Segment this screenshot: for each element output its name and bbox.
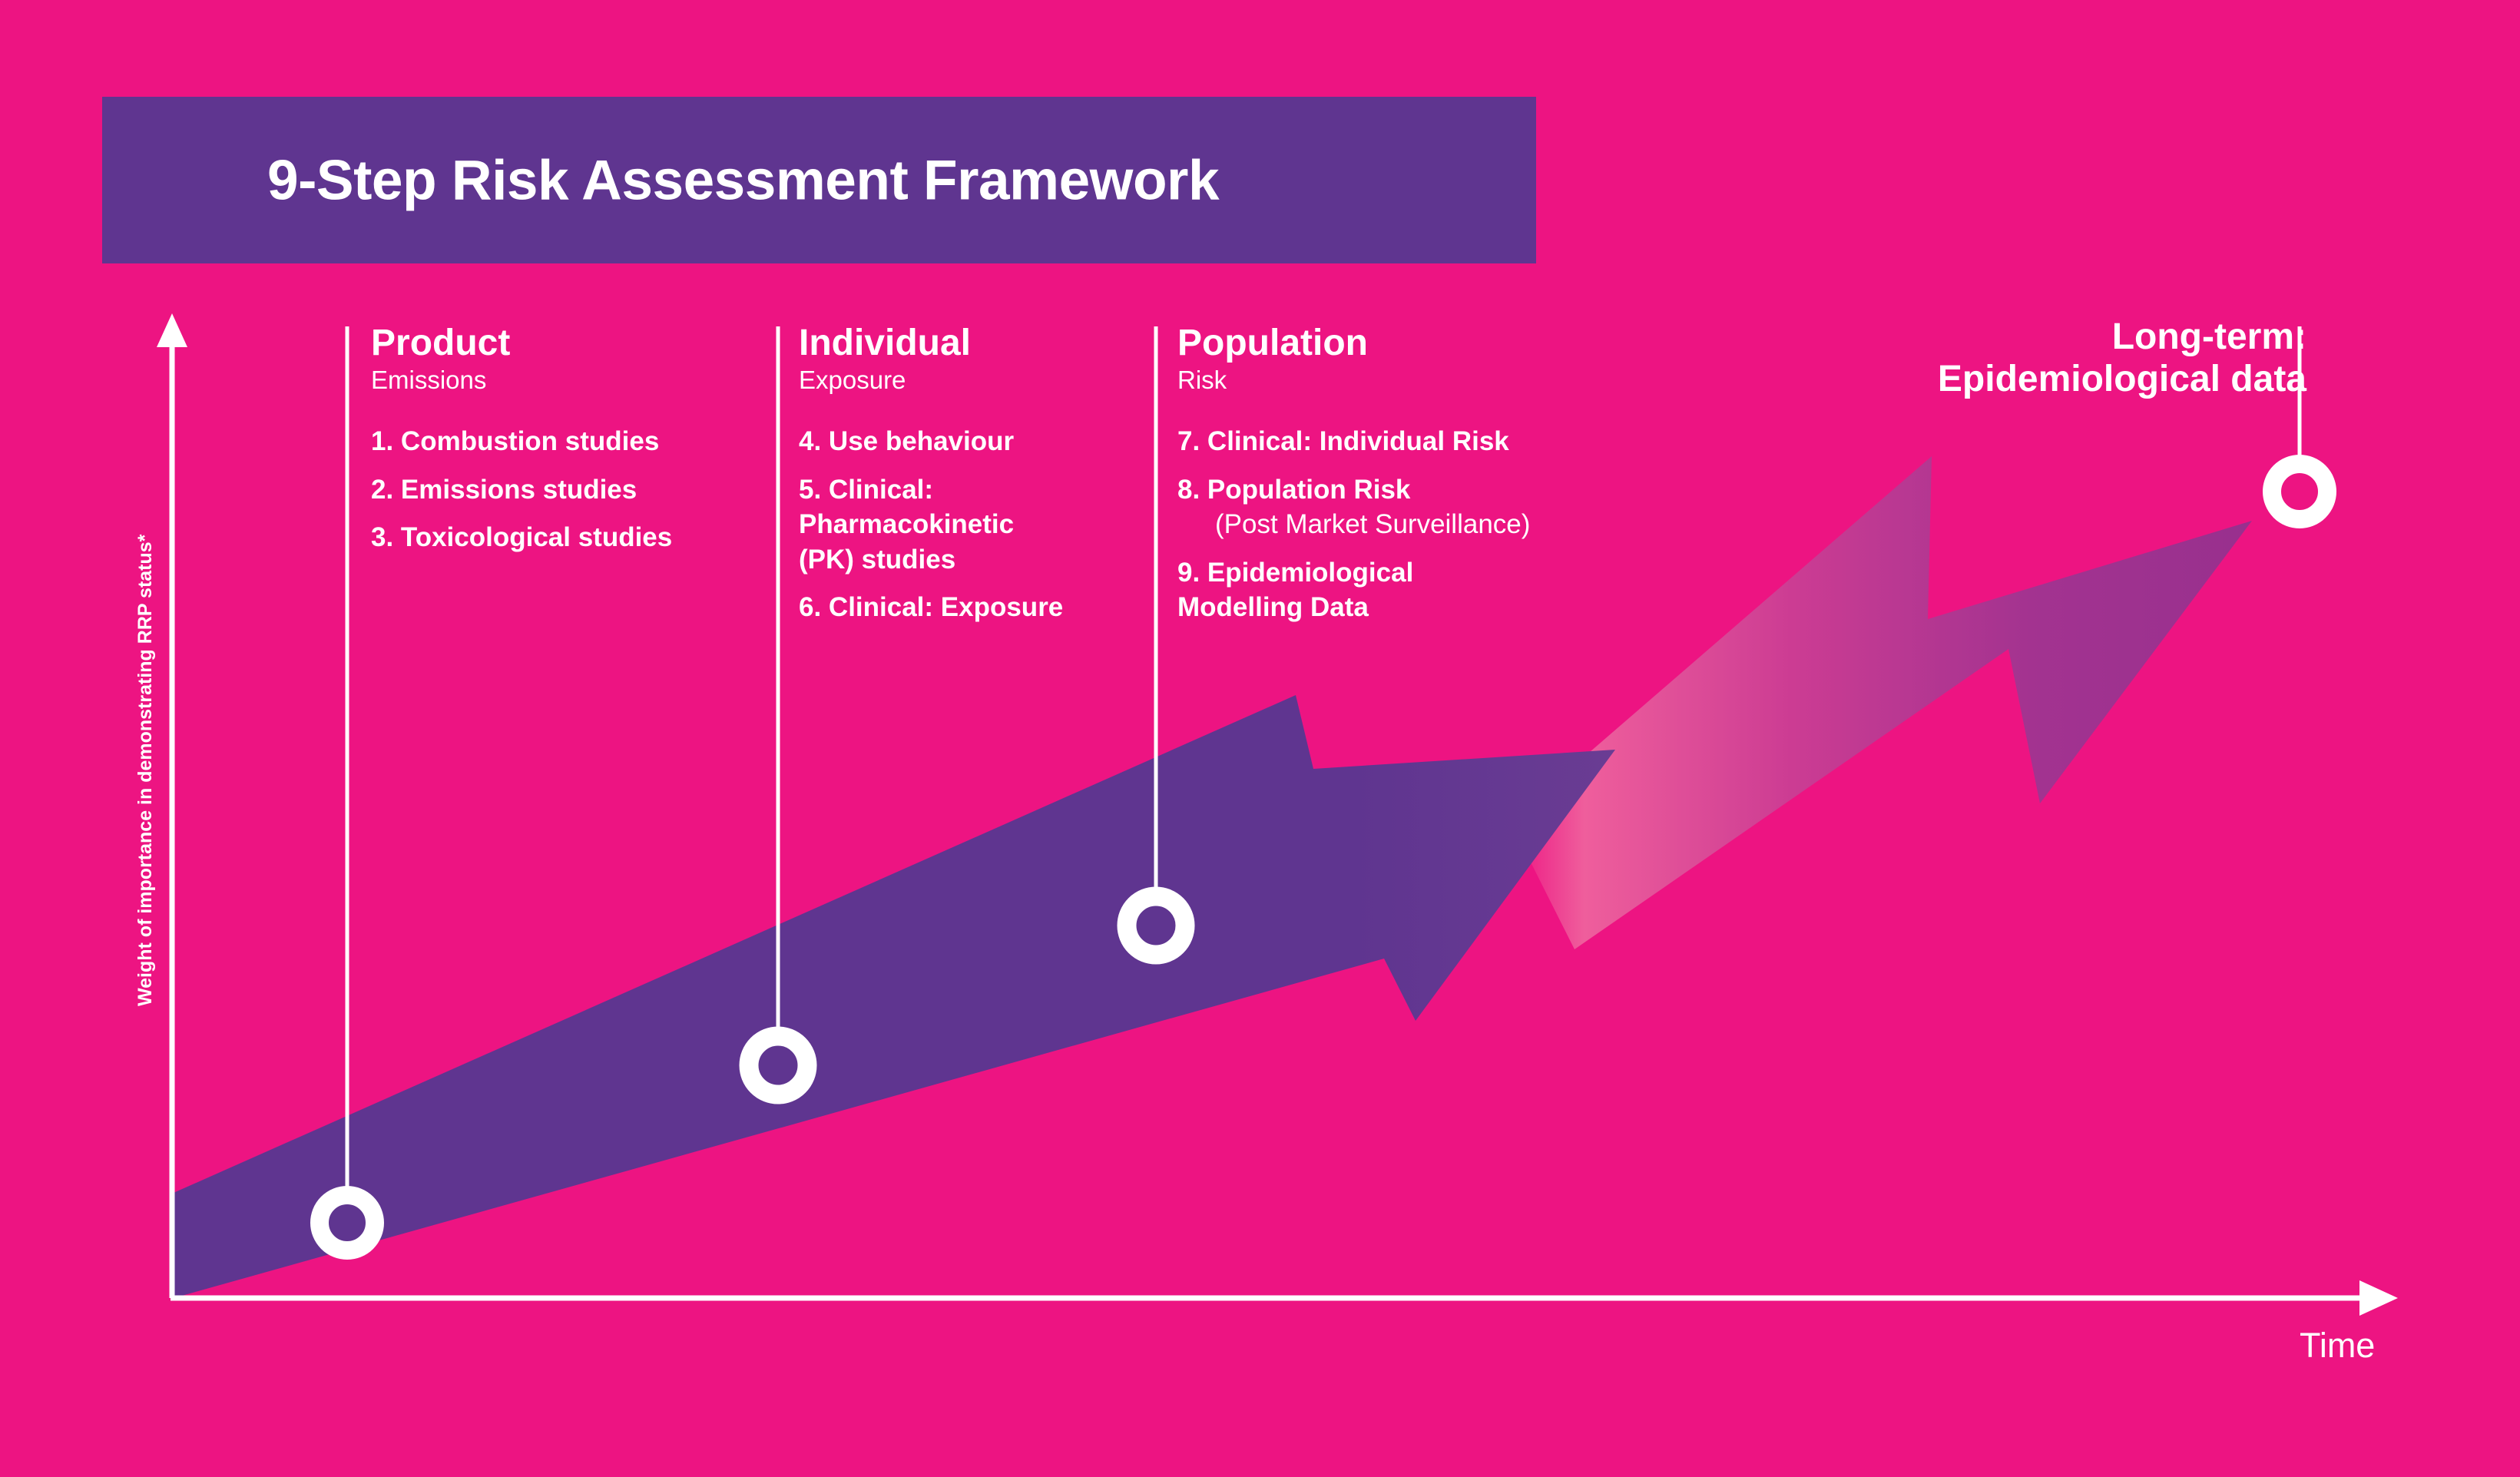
page-title: 9-Step Risk Assessment Framework [267, 148, 1219, 212]
stage-item-list-population: 7. Clinical: Individual Risk 8. Populati… [1177, 424, 1530, 625]
arrow-secondary [1510, 456, 2252, 949]
stage-item-list-individual: 4. Use behaviour 5. Clinical: Pharmacoki… [799, 424, 1063, 625]
y-axis-label: Weight of importance in demonstrating RR… [134, 238, 157, 1006]
stage-item: 1. Combustion studies [371, 424, 672, 459]
stage-item: 4. Use behaviour [799, 424, 1063, 459]
stage-title-product: Product [371, 324, 672, 363]
stage-title-individual: Individual [799, 324, 1063, 363]
stage-column-population: Population Risk 7. Clinical: Individual … [1177, 324, 1530, 638]
x-axis [171, 1280, 2398, 1316]
stage-item-main: 8. Population Risk [1177, 475, 1410, 505]
stage-subtitle-individual: Exposure [799, 364, 1063, 396]
stage-item-note: (Post Market Surveillance) [1177, 509, 1530, 539]
long-term-label: Long-term: Epidemiological data [1938, 316, 2306, 400]
stage-subtitle-product: Emissions [371, 364, 672, 396]
stage-title-population: Population [1177, 324, 1530, 363]
stage-item: 7. Clinical: Individual Risk [1177, 424, 1530, 459]
stage-item: 2. Emissions studies [371, 472, 672, 508]
infographic-canvas: 9-Step Risk Assessment Framework Weight … [0, 0, 2520, 1477]
stage-item: 3. Toxicological studies [371, 520, 672, 555]
stage-column-product: Product Emissions 1. Combustion studies … [371, 324, 672, 568]
marker-longterm[interactable] [2272, 464, 2327, 519]
y-axis [157, 313, 187, 1298]
stage-column-individual: Individual Exposure 4. Use behaviour 5. … [799, 324, 1063, 638]
stage-subtitle-population: Risk [1177, 364, 1530, 396]
stage-item: 5. Clinical: Pharmacokinetic (PK) studie… [799, 472, 1063, 578]
stage-item: 8. Population Risk(Post Market Surveilla… [1177, 472, 1530, 542]
title-banner: 9-Step Risk Assessment Framework [102, 97, 1536, 263]
stage-item-list-product: 1. Combustion studies 2. Emissions studi… [371, 424, 672, 555]
stage-item: 9. Epidemiological Modelling Data [1177, 555, 1530, 625]
x-axis-label: Time [2300, 1326, 2375, 1366]
stage-item: 6. Clinical: Exposure [799, 590, 1063, 625]
arrow-primary [174, 695, 1615, 1298]
